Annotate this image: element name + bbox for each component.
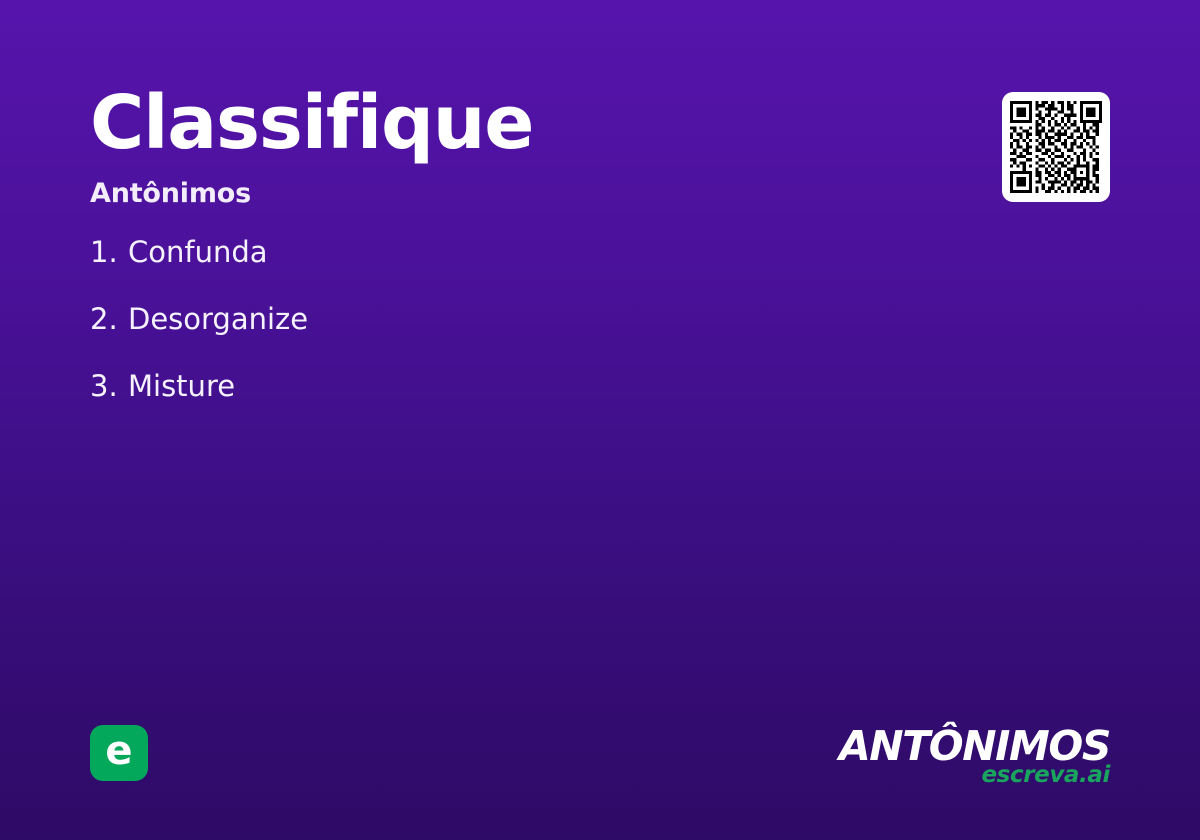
brand-badge-letter: e [105, 731, 132, 771]
header-block: Classifique Antônimos [90, 86, 850, 209]
list-item-index: 2. [90, 305, 128, 334]
page-subtitle: Antônimos [90, 160, 850, 209]
page-title: Classifique [90, 86, 850, 160]
list-item: 3. Misture [90, 372, 890, 439]
footer-wordmark: ANTÔNIMOS escreva.ai [839, 726, 1110, 787]
list-item-label: Misture [128, 372, 235, 401]
antonyms-list: 1. Confunda 2. Desorganize 3. Misture [90, 238, 890, 439]
list-item-index: 1. [90, 238, 128, 267]
slide-canvas: Classifique Antônimos [0, 0, 1200, 840]
list-item-index: 3. [90, 372, 128, 401]
escreva-logo-badge: e [90, 725, 148, 781]
wordmark-main-text: ANTÔNIMOS [839, 726, 1110, 767]
qr-code-card[interactable] [1002, 92, 1110, 202]
list-item-label: Desorganize [128, 305, 308, 334]
qr-code-icon [1010, 101, 1102, 193]
list-item: 1. Confunda [90, 238, 890, 305]
list-item-label: Confunda [128, 238, 268, 267]
list-item: 2. Desorganize [90, 305, 890, 372]
